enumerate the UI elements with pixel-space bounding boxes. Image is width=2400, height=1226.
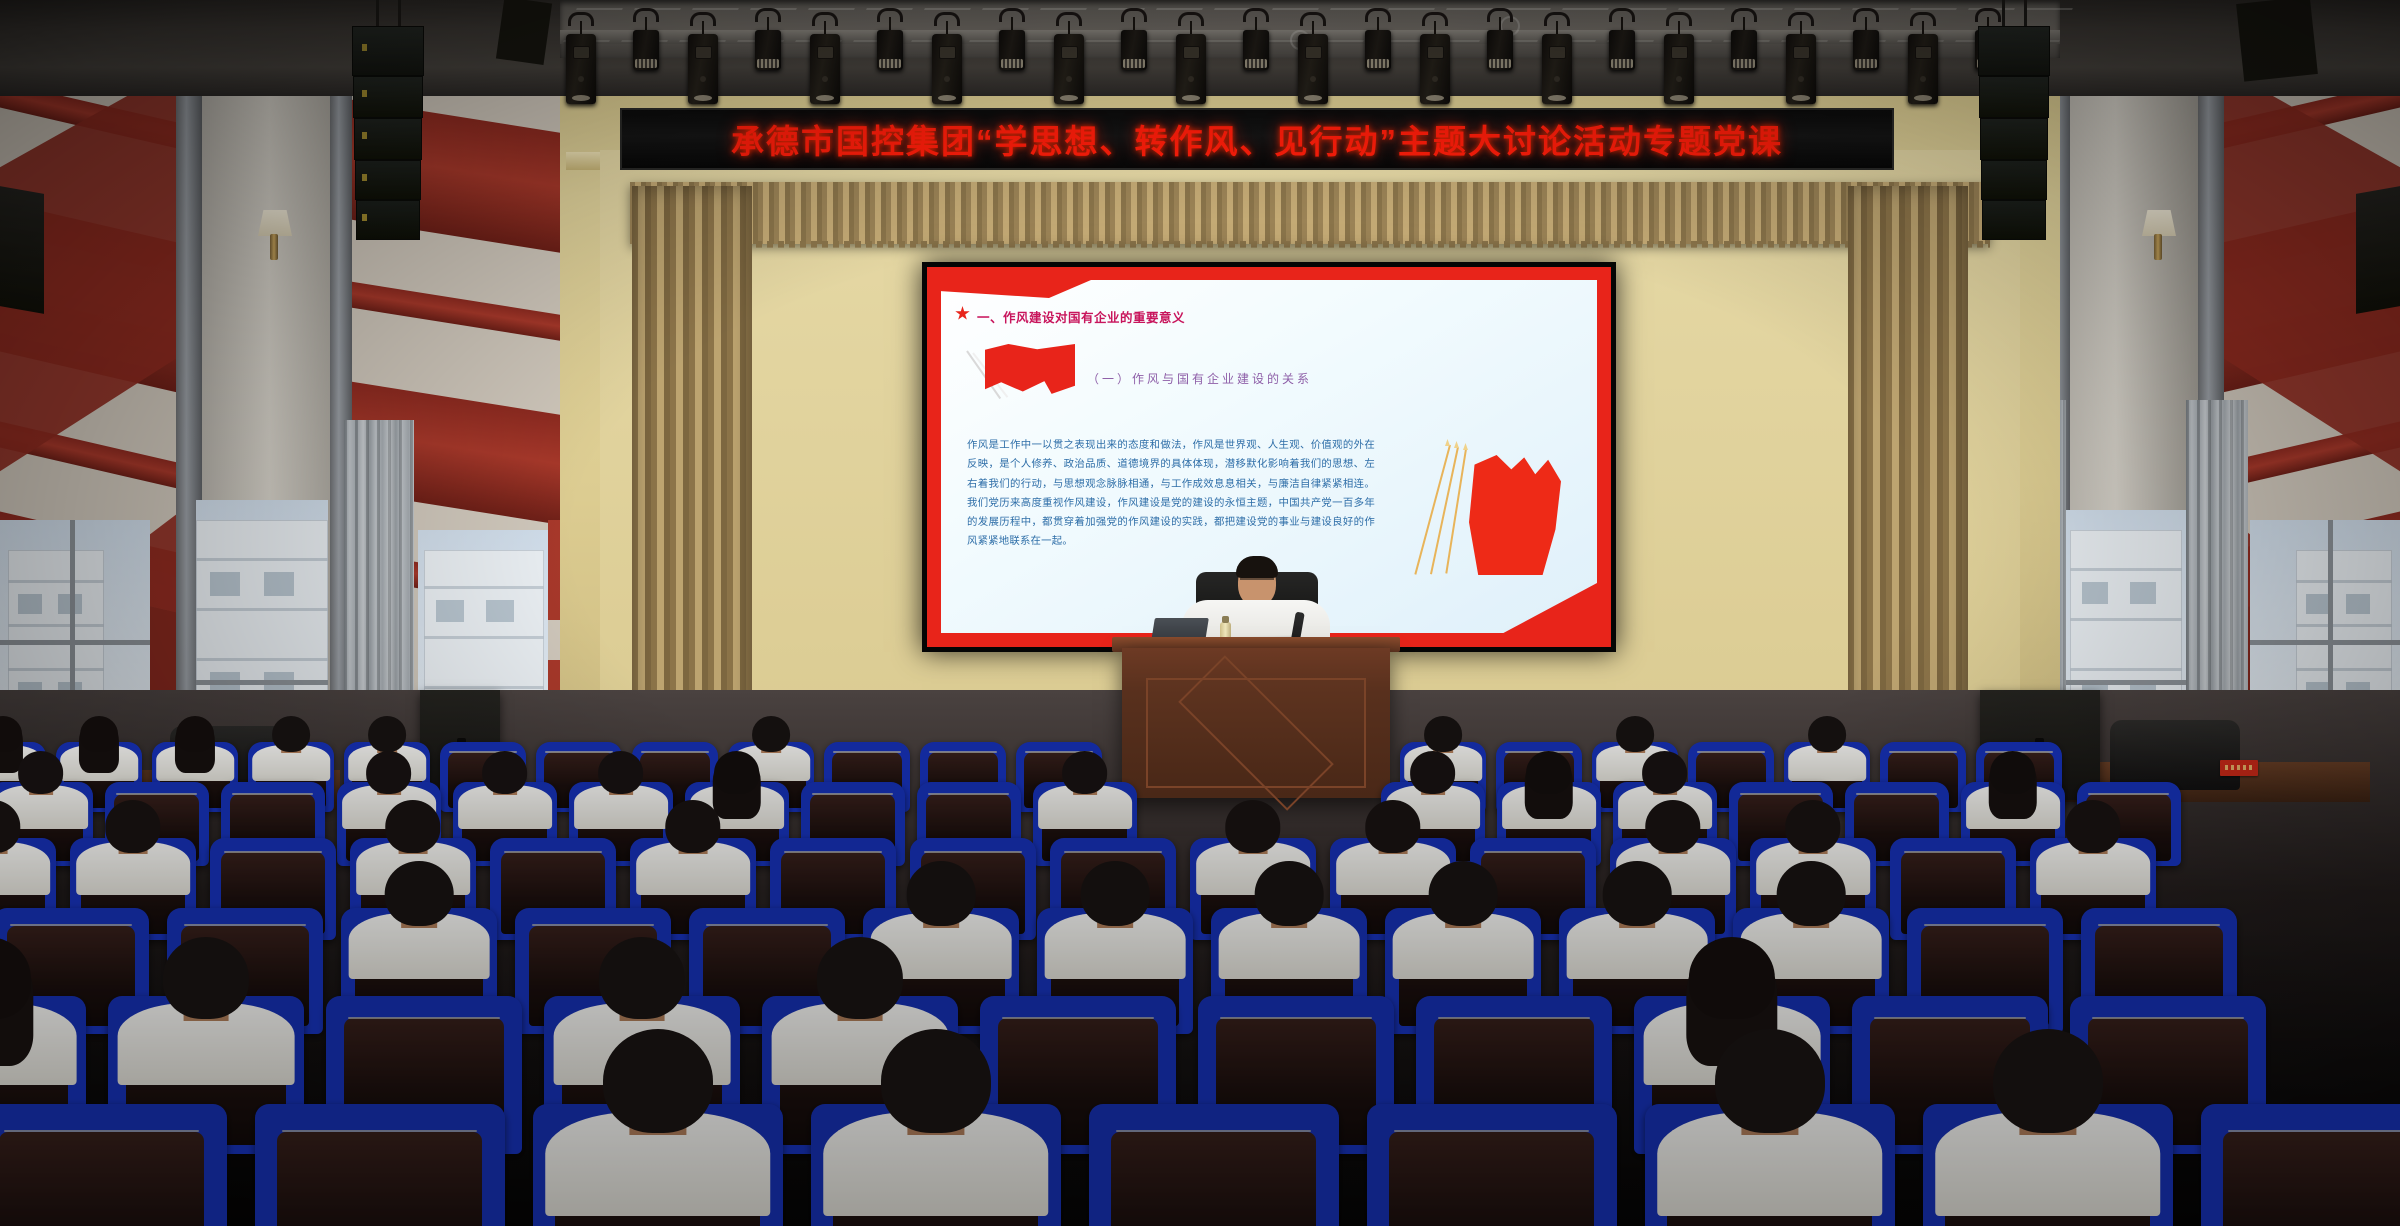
- audience-member-head: [752, 716, 790, 752]
- line-array-speaker-right: [1978, 8, 2048, 238]
- stage-par-light: [1786, 34, 1816, 104]
- stage-fresnel-light: [999, 30, 1025, 70]
- audience-member-head: [1993, 1029, 2103, 1133]
- audience-member-head: [1777, 861, 1846, 927]
- stage-fresnel-light: [1731, 30, 1757, 70]
- ceiling-speaker-far-left: [496, 0, 552, 65]
- audience-member-head: [385, 861, 454, 927]
- red-star-icon: [955, 306, 970, 321]
- presenter-hair: [1236, 556, 1278, 578]
- led-banner-text: 承德市国控集团“学思想、转作风、见行动”主题大讨论活动专题党课: [731, 115, 1783, 163]
- stage-par-light: [1664, 34, 1694, 104]
- stage-par-light: [1420, 34, 1450, 104]
- stage-par-light: [932, 34, 962, 104]
- exec-chair-right: [2110, 720, 2240, 790]
- audience-member-head: [482, 751, 528, 795]
- audience-chair[interactable]: [1367, 1104, 1617, 1226]
- stage-curtain-valance: [630, 182, 1990, 244]
- corner-speaker-right: [2356, 186, 2400, 314]
- conference-hall-photo: 承德市国控集团“学思想、转作风、见行动”主题大讨论活动专题党课 一、作风建设对国…: [0, 0, 2400, 1226]
- audience-member-head: [272, 716, 310, 752]
- stage-drape-right: [1848, 186, 1968, 746]
- audience-chair[interactable]: [2201, 1104, 2400, 1226]
- stage-par-light: [1908, 34, 1938, 104]
- audience-member-head: [598, 751, 644, 795]
- stage-fresnel-light: [1243, 30, 1269, 70]
- stage-par-light: [1176, 34, 1206, 104]
- audience-member-head: [1365, 800, 1420, 853]
- stage-par-light: [1298, 34, 1328, 104]
- stage-par-light: [688, 34, 718, 104]
- stage-drape-left: [632, 186, 752, 746]
- audience-member-head: [1081, 861, 1150, 927]
- audience-member-head: [1225, 800, 1280, 853]
- led-banner: 承德市国控集团“学思想、转作风、见行动”主题大讨论活动专题党课: [620, 108, 1894, 170]
- audience-member-head: [1255, 861, 1324, 927]
- ceiling-speaker-far-right: [2236, 0, 2318, 82]
- stage-fresnel-light: [633, 30, 659, 70]
- slide-subtitle: （一）作风与国有企业建设的关系: [1087, 370, 1312, 387]
- stage-par-light: [1054, 34, 1084, 104]
- stage-fresnel-light: [1853, 30, 1879, 70]
- audience-member-head: [907, 861, 976, 927]
- stage-par-light: [566, 34, 596, 104]
- audience-member-head: [1990, 751, 2036, 795]
- audience-member-head: [881, 1029, 991, 1133]
- audience-member-head: [1410, 751, 1456, 795]
- audience-member-head: [603, 1029, 713, 1133]
- audience-chair[interactable]: [1089, 1104, 1339, 1226]
- audience-member-head: [1429, 861, 1498, 927]
- audience-member-head: [1785, 800, 1840, 853]
- audience-member-head: [714, 751, 760, 795]
- stage-par-light: [810, 34, 840, 104]
- audience-member-head: [385, 800, 440, 853]
- audience-member-head: [368, 716, 406, 752]
- audience-member-head: [163, 937, 249, 1019]
- audience-member-head: [1645, 800, 1700, 853]
- stage-fresnel-light: [1487, 30, 1513, 70]
- stage-fresnel-light: [755, 30, 781, 70]
- stage-fresnel-light: [1609, 30, 1635, 70]
- audience-member-head: [1808, 716, 1846, 752]
- audience-member-head: [599, 937, 685, 1019]
- stage-fresnel-light: [1121, 30, 1147, 70]
- audience-member-head: [665, 800, 720, 853]
- stage-fresnel-light: [877, 30, 903, 70]
- slide-title: 一、作风建设对国有企业的重要意义: [977, 307, 1185, 326]
- audience-member-head: [1642, 751, 1688, 795]
- slide-body-text: 作风是工作中一以贯之表现出来的态度和做法，作风是世界观、人生观、价值观的外在反映…: [967, 436, 1375, 552]
- line-array-speaker-left: [352, 8, 422, 238]
- corner-speaker-left: [0, 186, 44, 314]
- audience-member-head: [1526, 751, 1572, 795]
- audience-member-head: [80, 716, 118, 752]
- audience-chair[interactable]: [255, 1104, 505, 1226]
- audience-member-head: [105, 800, 160, 853]
- audience-member-head: [817, 937, 903, 1019]
- audience-chair[interactable]: [0, 1104, 227, 1226]
- stage-par-light: [1542, 34, 1572, 104]
- podium: [1122, 648, 1390, 798]
- audience-member-head: [366, 751, 412, 795]
- audience-member-head: [176, 716, 214, 752]
- audience-member-head: [18, 751, 64, 795]
- audience-member-head: [1689, 937, 1775, 1019]
- audience-member-head: [1616, 716, 1654, 752]
- red-flag-graphic: [963, 342, 1075, 414]
- audience-member-head: [1715, 1029, 1825, 1133]
- audience-member-head: [1062, 751, 1108, 795]
- audience-member-head: [1603, 861, 1672, 927]
- desk-nameplate-right: [2220, 760, 2258, 776]
- podium-panel: [1146, 678, 1366, 788]
- stage-fresnel-light: [1365, 30, 1391, 70]
- red-book-graphic: [1443, 439, 1563, 575]
- audience-member-head: [2065, 800, 2120, 853]
- audience-member-head: [1424, 716, 1462, 752]
- presenter-glasses: [1240, 578, 1274, 587]
